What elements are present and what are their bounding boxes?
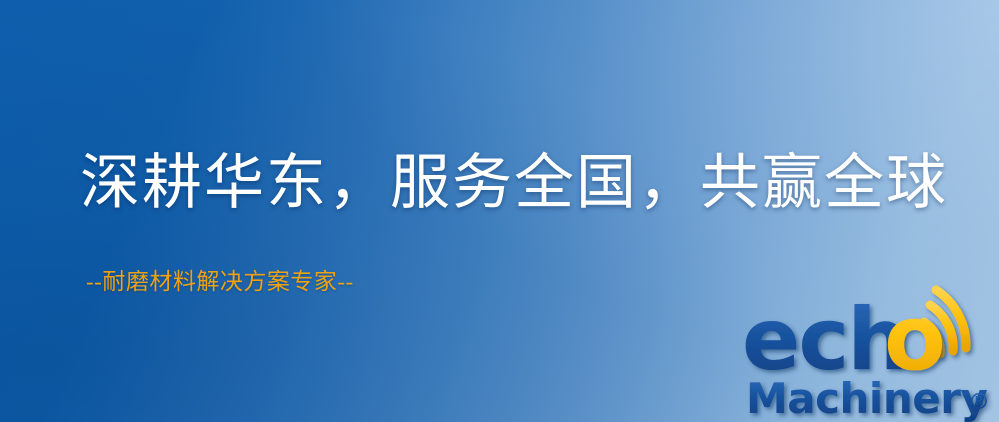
logo-machinery-text: Machinery — [746, 374, 987, 422]
echo-machinery-logo: ech o Machinery ® — [744, 292, 999, 422]
promo-banner: 深耕华东，服务全国，共赢全球 --耐磨材料解决方案专家-- — [0, 0, 999, 422]
subtitle-text: --耐磨材料解决方案专家-- — [86, 269, 354, 294]
headline-text: 深耕华东，服务全国，共赢全球 — [80, 152, 948, 215]
logo-registered-mark: ® — [968, 390, 990, 415]
